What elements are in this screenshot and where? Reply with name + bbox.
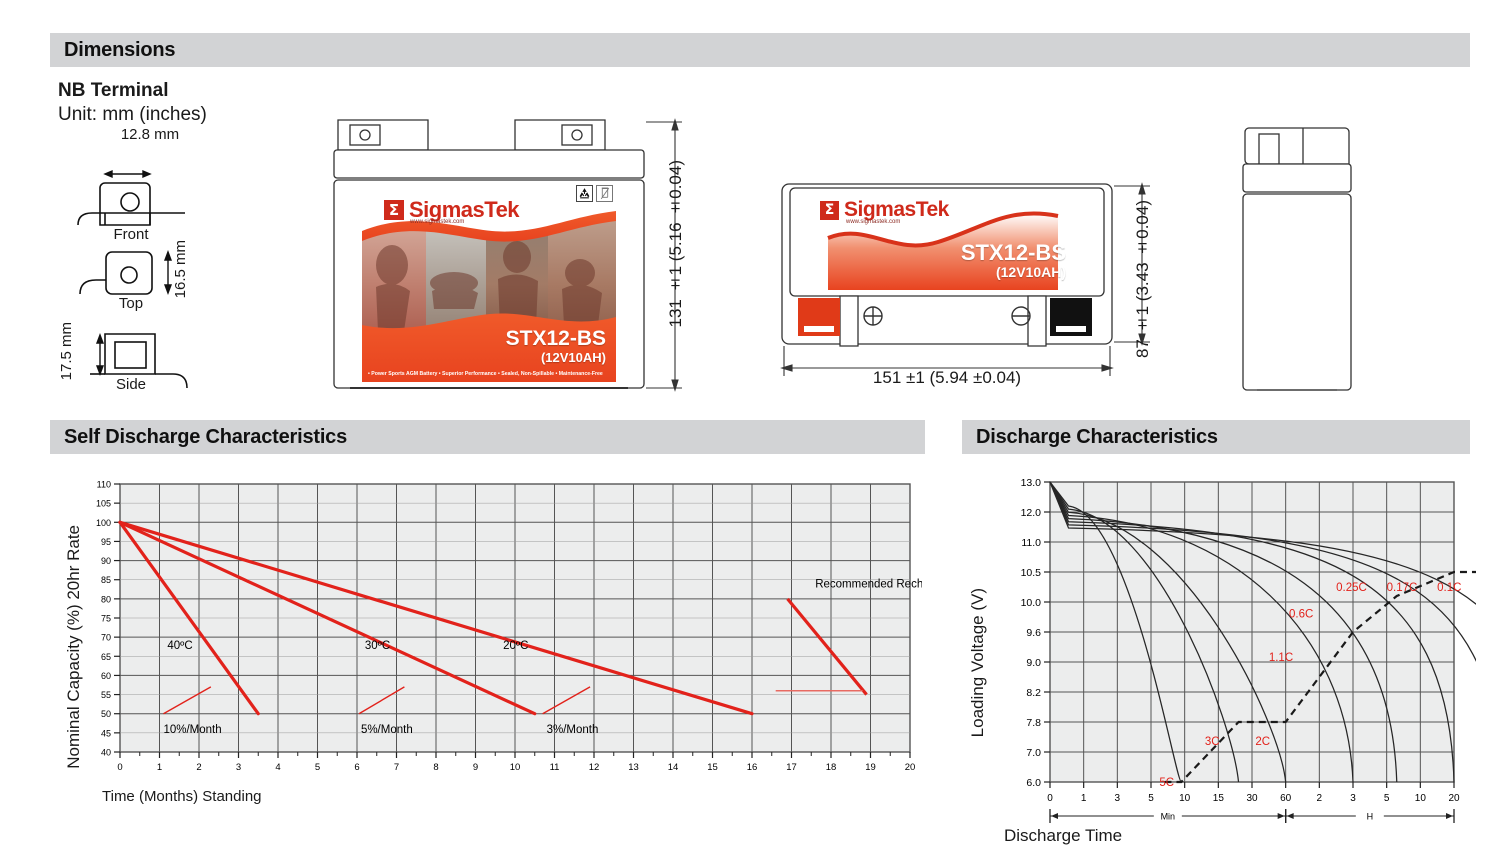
svg-text:12.0: 12.0	[1021, 507, 1042, 519]
svg-text:40: 40	[101, 748, 111, 758]
svg-text:10: 10	[1415, 793, 1427, 804]
battery-profile-view	[1235, 118, 1360, 400]
self-discharge-x-axis-title: Time (Months) Standing	[102, 788, 262, 805]
svg-text:40ºC: 40ºC	[167, 640, 192, 652]
svg-text:19: 19	[865, 762, 876, 773]
terminal-front-label: Front	[86, 226, 176, 243]
svg-text:5: 5	[315, 762, 320, 773]
svg-text:6.0: 6.0	[1026, 777, 1041, 789]
capacity-side: (12V10AH)	[996, 264, 1066, 280]
svg-text:70: 70	[101, 633, 111, 643]
svg-text:20: 20	[1448, 793, 1460, 804]
self-discharge-y-axis-title: Nominal Capacity (%) 20hr Rate	[64, 525, 84, 769]
compliance-icons	[576, 185, 613, 202]
battery-height-dimension: 131 ±1 (5.16 ±0.04)	[666, 160, 686, 327]
svg-text:110: 110	[97, 480, 111, 490]
svg-text:30: 30	[1246, 793, 1258, 804]
weee-glyph	[599, 187, 611, 200]
dimensions-title: Dimensions	[64, 39, 175, 62]
svg-text:5%/Month: 5%/Month	[361, 724, 413, 736]
terminal-depth-dimension: 16.5 mm	[172, 240, 189, 298]
battery-front-label: Σ SigmasTek www.sigmastek.com STX12-BS (…	[362, 187, 616, 382]
terminal-height-dimension: 17.5 mm	[58, 322, 75, 380]
svg-text:3: 3	[1115, 793, 1121, 804]
svg-text:6: 6	[354, 762, 359, 773]
svg-text:13: 13	[628, 762, 639, 773]
nb-terminal-title: NB Terminal	[58, 80, 169, 102]
self-discharge-plot: 4045505560657075808590951001051100123456…	[92, 476, 922, 786]
sigma-logo-icon-side: Σ	[820, 201, 839, 220]
terminal-side-label: Side	[86, 376, 176, 393]
recycle-glyph	[578, 187, 591, 200]
svg-text:18: 18	[826, 762, 837, 773]
svg-text:7.0: 7.0	[1026, 747, 1041, 759]
svg-text:2C: 2C	[1255, 736, 1270, 748]
terminal-width-dimension: 12.8 mm	[80, 126, 220, 143]
svg-text:45: 45	[101, 728, 111, 738]
svg-text:3: 3	[236, 762, 241, 773]
dimensions-section-header: Dimensions	[50, 33, 1470, 67]
svg-text:10.0: 10.0	[1021, 597, 1042, 609]
svg-text:15: 15	[1213, 793, 1225, 804]
svg-text:20ºC: 20ºC	[503, 640, 528, 652]
svg-text:3%/Month: 3%/Month	[547, 724, 599, 736]
svg-text:90: 90	[101, 556, 111, 566]
brand-url: www.sigmastek.com	[410, 219, 464, 225]
svg-text:2: 2	[196, 762, 201, 773]
svg-text:9: 9	[473, 762, 478, 773]
svg-text:0.17C: 0.17C	[1387, 582, 1418, 594]
svg-text:0.1C: 0.1C	[1437, 582, 1461, 594]
recycle-icon	[576, 185, 593, 202]
svg-text:50: 50	[101, 709, 111, 719]
svg-text:13.0: 13.0	[1021, 477, 1042, 489]
svg-text:20: 20	[905, 762, 916, 773]
battery-front-view: Σ SigmasTek www.sigmastek.com STX12-BS (…	[330, 112, 708, 400]
svg-text:10%/Month: 10%/Month	[163, 724, 221, 736]
svg-text:7.8: 7.8	[1026, 717, 1041, 729]
svg-text:0: 0	[1047, 793, 1053, 804]
svg-text:60: 60	[101, 671, 111, 681]
svg-text:10: 10	[1179, 793, 1191, 804]
svg-text:5: 5	[1148, 793, 1154, 804]
unit-label: Unit: mm (inches)	[58, 104, 207, 126]
svg-text:12: 12	[589, 762, 600, 773]
svg-text:55: 55	[101, 690, 111, 700]
self-discharge-title: Self Discharge Characteristics	[64, 426, 347, 449]
svg-text:60: 60	[1280, 793, 1292, 804]
svg-text:5: 5	[1384, 793, 1390, 804]
svg-text:0: 0	[117, 762, 122, 773]
svg-text:2: 2	[1317, 793, 1323, 804]
svg-text:1.1C: 1.1C	[1269, 652, 1293, 664]
svg-text:105: 105	[96, 499, 111, 509]
sigma-logo-icon: Σ	[384, 200, 404, 220]
svg-text:9.6: 9.6	[1026, 627, 1041, 639]
model-number-front: STX12-BS	[506, 327, 606, 351]
svg-text:15: 15	[707, 762, 718, 773]
svg-text:0.25C: 0.25C	[1336, 582, 1367, 594]
svg-text:75: 75	[101, 614, 111, 624]
svg-text:9.0: 9.0	[1026, 657, 1041, 669]
svg-text:16: 16	[747, 762, 758, 773]
discharge-chart: Loading Voltage (V) 6.07.07.88.29.09.610…	[962, 468, 1492, 858]
crossed-out-bin-icon	[596, 185, 613, 202]
battery-profile-outline	[1235, 118, 1360, 400]
model-number-side: STX12-BS	[961, 240, 1066, 266]
terminal-drawings: Front Top Side 12.8 mm 16.5 mm 17.5 mm	[60, 130, 260, 405]
brand-url-side: www.sigmastek.com	[846, 219, 900, 225]
terminal-top-label: Top	[86, 295, 176, 312]
svg-text:1: 1	[1081, 793, 1087, 804]
svg-text:7: 7	[394, 762, 399, 773]
feature-bullets: • Power Sports AGM Battery • Superior Pe…	[368, 371, 603, 377]
svg-text:95: 95	[101, 537, 111, 547]
discharge-x-axis-title: Discharge Time	[1004, 826, 1122, 846]
svg-text:11: 11	[550, 762, 560, 773]
svg-text:5C: 5C	[1159, 777, 1174, 789]
battery-length-dimension: 151 ±1 (5.94 ±0.04)	[778, 368, 1116, 388]
svg-text:3C: 3C	[1205, 736, 1220, 748]
svg-text:10.5: 10.5	[1021, 567, 1042, 579]
svg-text:11.0: 11.0	[1021, 537, 1041, 549]
terminal-views-svg	[60, 130, 260, 405]
svg-text:4: 4	[275, 762, 280, 773]
capacity-front: (12V10AH)	[541, 350, 606, 365]
svg-text:30ºC: 30ºC	[365, 640, 390, 652]
discharge-title: Discharge Characteristics	[976, 426, 1218, 449]
svg-text:100: 100	[96, 518, 111, 528]
svg-text:Min: Min	[1161, 812, 1176, 822]
svg-text:8: 8	[433, 762, 438, 773]
svg-text:8.2: 8.2	[1026, 687, 1041, 699]
svg-text:85: 85	[101, 575, 111, 585]
svg-text:H: H	[1367, 812, 1374, 822]
battery-depth-dimension: 87 ±1 (3.43 ±0.04)	[1133, 200, 1153, 358]
svg-text:10: 10	[510, 762, 521, 773]
svg-text:Recommended Recharge Point: Recommended Recharge Point	[815, 579, 922, 591]
svg-text:65: 65	[101, 652, 111, 662]
svg-text:0.6C: 0.6C	[1289, 608, 1313, 620]
svg-text:80: 80	[101, 594, 111, 604]
battery-side-view: Σ SigmasTek www.sigmastek.com STX12-BS (…	[778, 180, 1168, 390]
battery-side-label: Σ SigmasTek www.sigmastek.com STX12-BS (…	[798, 192, 1088, 290]
self-discharge-section-header: Self Discharge Characteristics	[50, 420, 925, 454]
svg-text:14: 14	[668, 762, 679, 773]
svg-text:17: 17	[786, 762, 797, 773]
svg-text:1: 1	[157, 762, 162, 773]
discharge-section-header: Discharge Characteristics	[962, 420, 1470, 454]
discharge-y-axis-title: Loading Voltage (V)	[968, 588, 988, 737]
discharge-plot: 6.07.07.88.29.09.610.010.511.012.013.001…	[1006, 472, 1476, 832]
self-discharge-chart: Nominal Capacity (%) 20hr Rate 404550556…	[50, 470, 930, 820]
svg-text:3: 3	[1350, 793, 1356, 804]
